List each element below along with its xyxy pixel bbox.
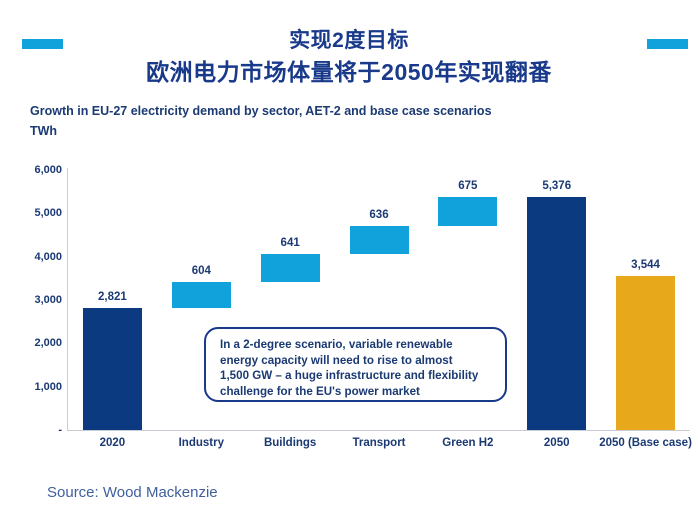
y-tick-label: 6,000 <box>4 164 62 176</box>
y-axis-line <box>67 168 68 431</box>
bar-value-label: 2,821 <box>98 291 127 303</box>
category-label: Industry <box>179 437 224 449</box>
category-label: 2050 (Base case) <box>599 437 692 449</box>
y-tick-label: 2,000 <box>4 337 62 349</box>
x-axis-line <box>67 430 690 431</box>
source-note: Source: Wood Mackenzie <box>47 484 218 501</box>
callout-box: In a 2-degree scenario, variable renewab… <box>204 327 507 402</box>
y-tick-label: 3,000 <box>4 294 62 306</box>
callout-line-4: challenge for the EU's power market <box>220 384 492 400</box>
bar-2020[interactable] <box>83 308 142 430</box>
bar-2050-base-case[interactable] <box>616 276 675 430</box>
bar-green-h2[interactable] <box>438 197 497 226</box>
bar-2050[interactable] <box>527 197 586 430</box>
callout-line-3: 1,500 GW – a huge infrastructure and fle… <box>220 368 492 384</box>
bar-value-label: 675 <box>458 180 477 192</box>
bar-value-label: 636 <box>369 209 388 221</box>
y-tick-label: 4,000 <box>4 251 62 263</box>
y-tick-label: - <box>4 424 62 436</box>
callout-line-1: In a 2-degree scenario, variable renewab… <box>220 337 492 353</box>
callout-line-2: energy capacity will need to rise to alm… <box>220 353 492 369</box>
category-label: Transport <box>352 437 405 449</box>
bar-industry[interactable] <box>172 282 231 308</box>
bar-value-label: 641 <box>281 237 300 249</box>
category-label: Buildings <box>264 437 316 449</box>
bar-transport[interactable] <box>350 226 409 254</box>
bar-value-label: 604 <box>192 265 211 277</box>
bar-value-label: 3,544 <box>631 259 660 271</box>
category-label: Green H2 <box>442 437 493 449</box>
y-tick-label: 1,000 <box>4 381 62 393</box>
bar-buildings[interactable] <box>261 254 320 282</box>
category-label: 2020 <box>100 437 126 449</box>
category-label: 2050 <box>544 437 570 449</box>
bar-value-label: 5,376 <box>542 180 571 192</box>
y-tick-label: 5,000 <box>4 207 62 219</box>
